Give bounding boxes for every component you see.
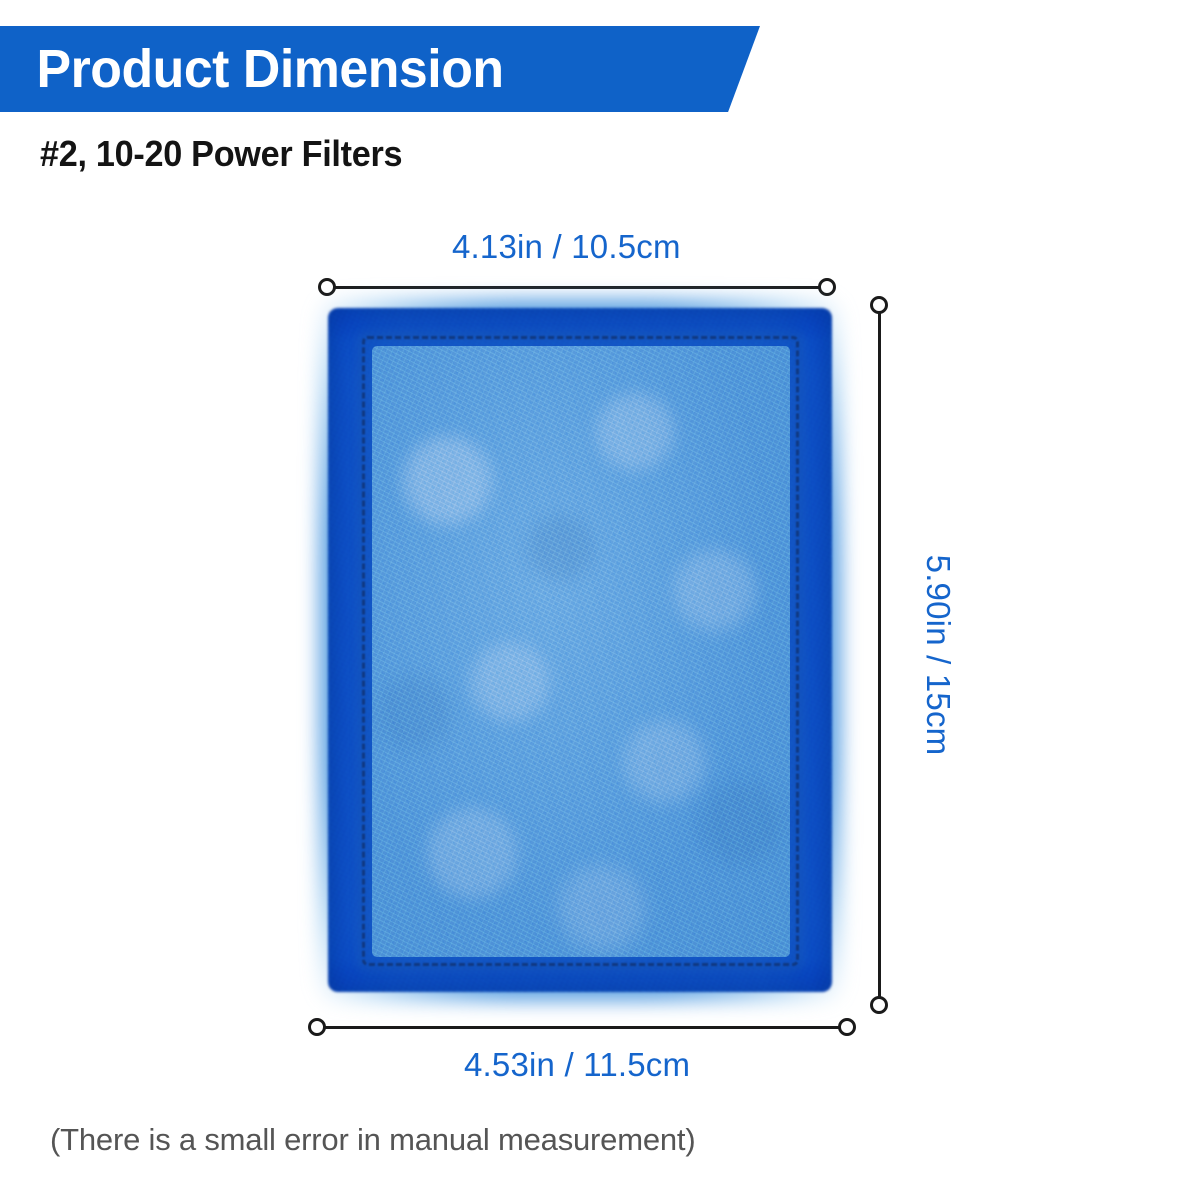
right-dimension-label: 5.90in / 15cm bbox=[919, 510, 957, 800]
top-dimension-label: 4.13in / 10.5cm bbox=[452, 228, 681, 266]
product-dimension-page: Product Dimension #2, 10-20 Power Filter… bbox=[0, 0, 1200, 1200]
right-dimension-line bbox=[878, 312, 881, 1002]
bottom-dimension-endpoint-left bbox=[308, 1018, 326, 1036]
filter-pad-inner-field bbox=[372, 346, 790, 957]
bottom-dimension-endpoint-right bbox=[838, 1018, 856, 1036]
right-dimension-endpoint-top bbox=[870, 296, 888, 314]
page-title: Product Dimension bbox=[0, 42, 504, 96]
filter-pad-image bbox=[300, 280, 860, 1020]
measurement-disclaimer: (There is a small error in manual measur… bbox=[50, 1122, 695, 1158]
right-dimension-endpoint-bottom bbox=[870, 996, 888, 1014]
bottom-dimension-line bbox=[325, 1026, 847, 1029]
product-model-subtitle: #2, 10-20 Power Filters bbox=[40, 133, 402, 175]
header-banner: Product Dimension bbox=[0, 26, 760, 112]
filter-pad-fiber-texture-inner bbox=[372, 346, 790, 957]
bottom-dimension-label: 4.53in / 11.5cm bbox=[464, 1046, 690, 1084]
